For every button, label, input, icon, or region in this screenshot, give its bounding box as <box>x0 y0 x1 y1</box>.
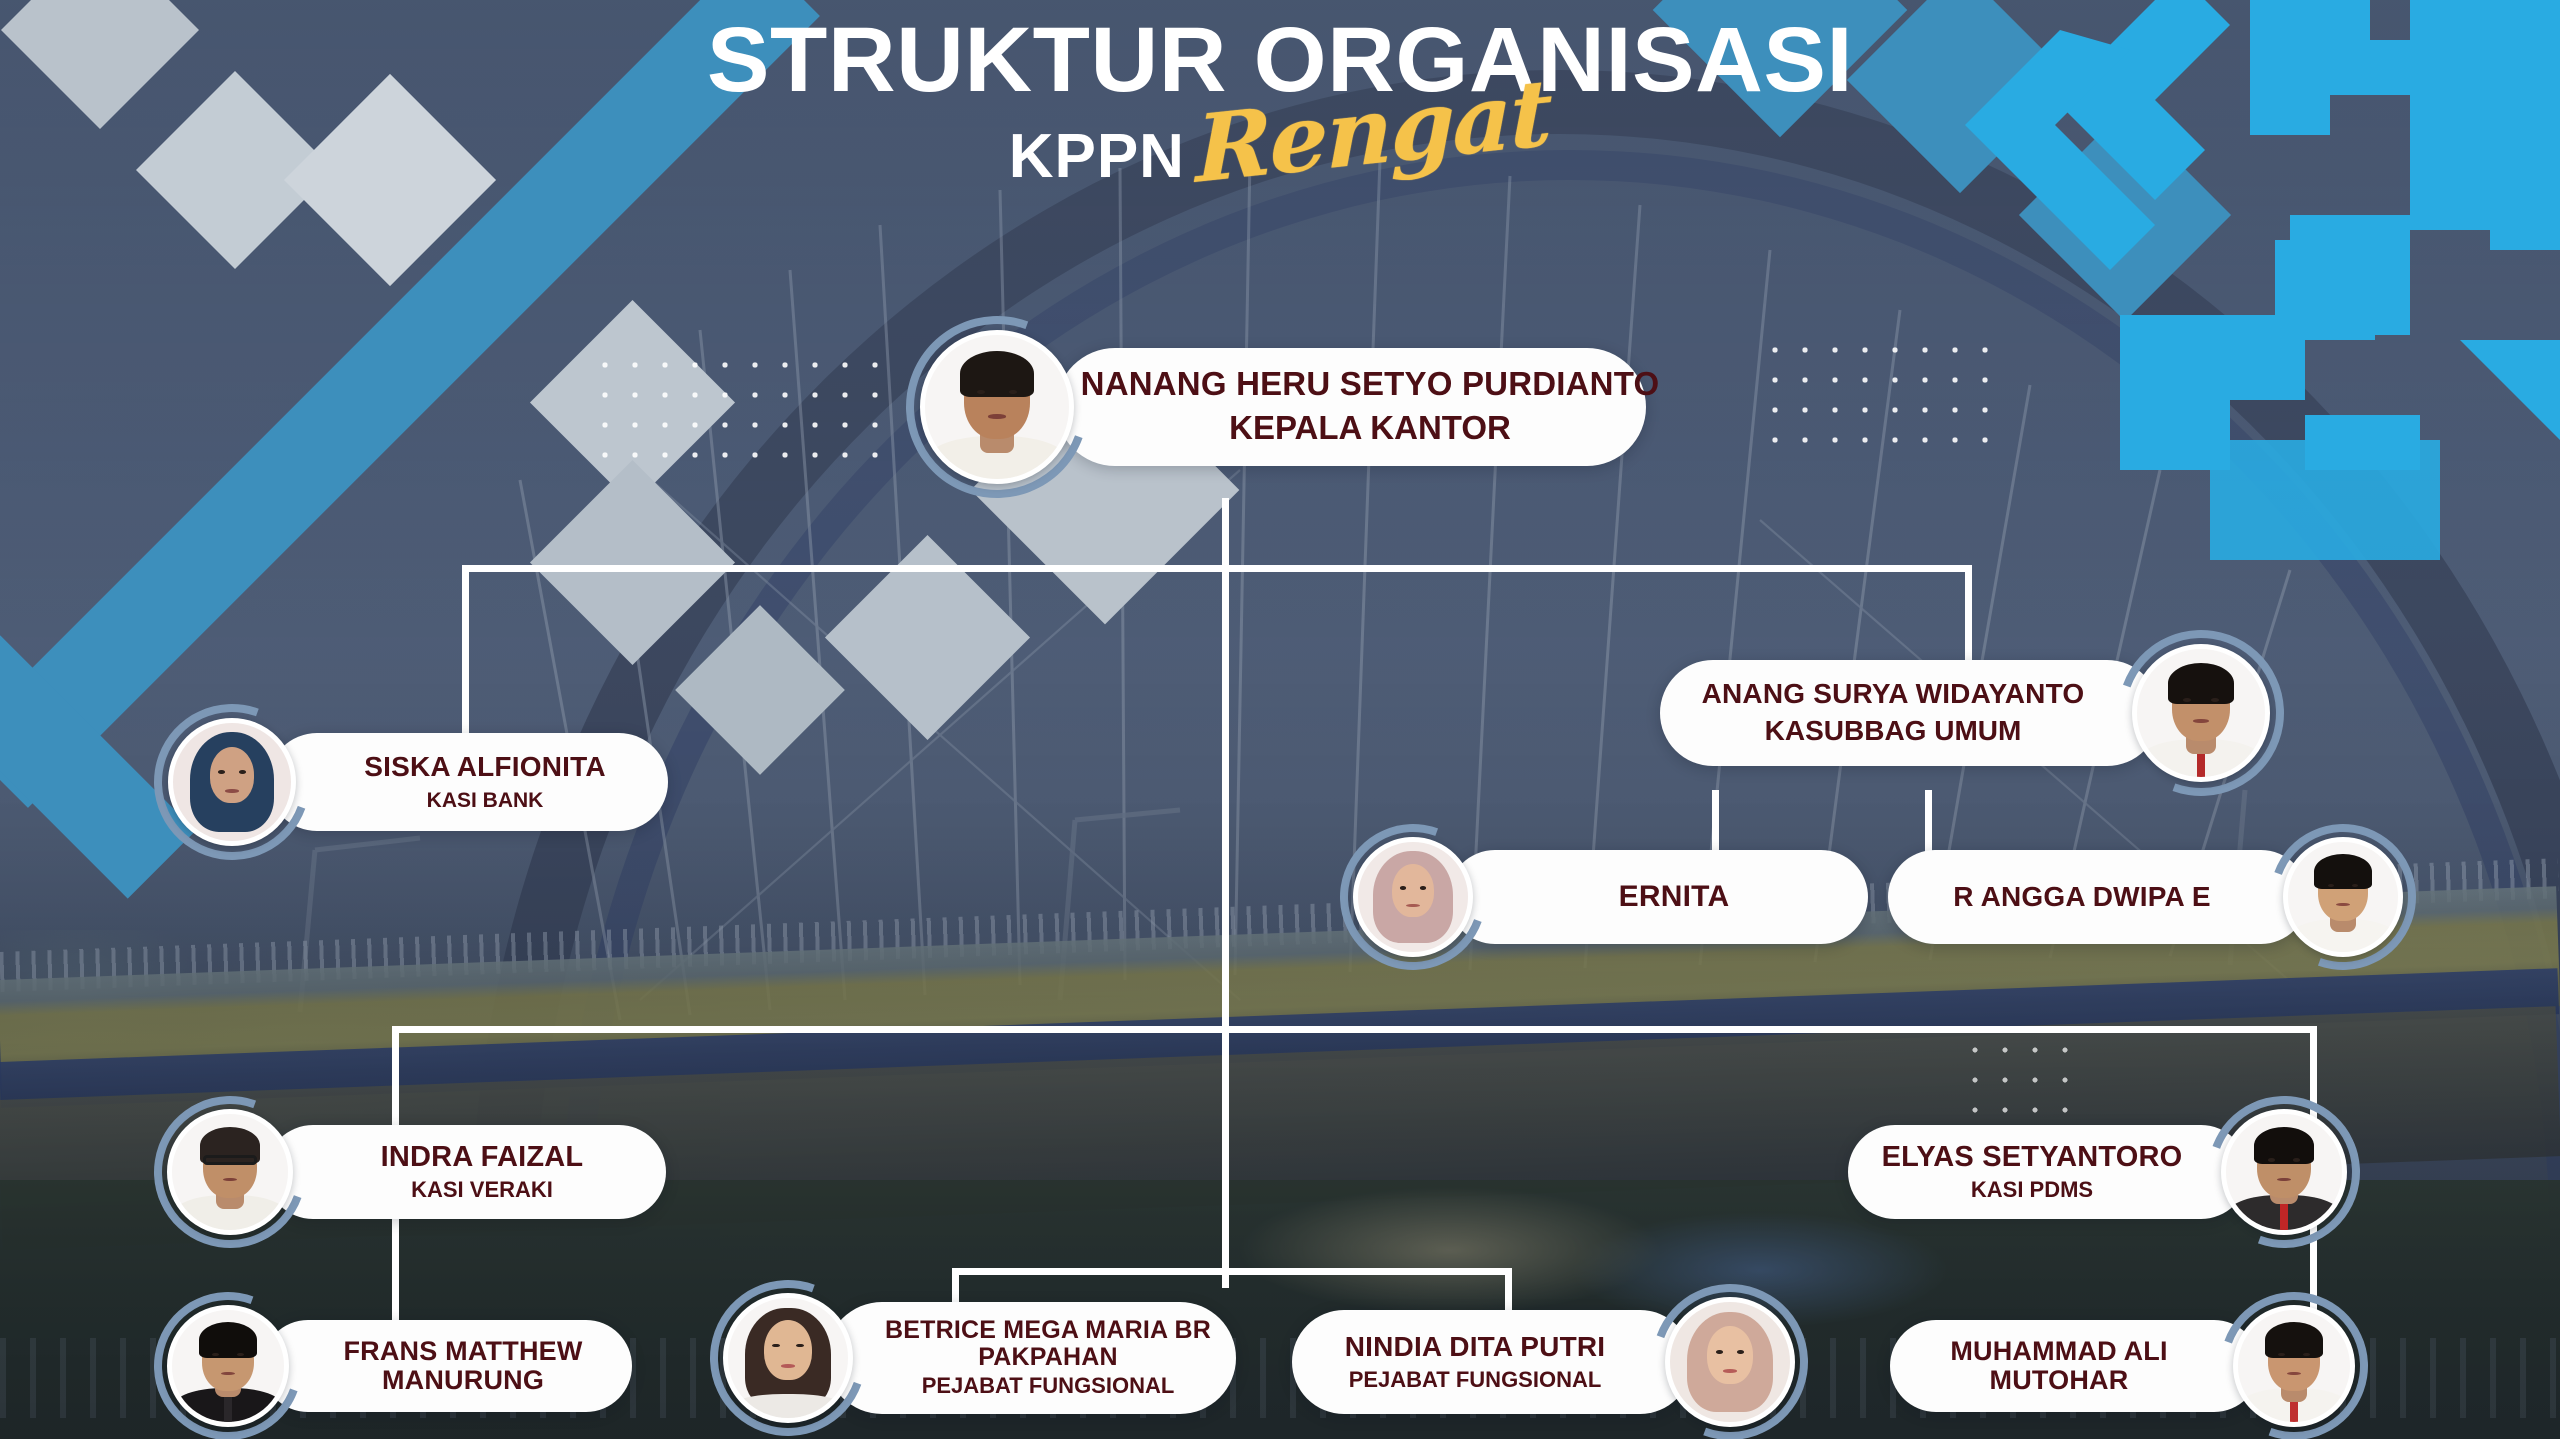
avatar <box>162 1300 294 1432</box>
avatar-photo <box>167 1305 289 1427</box>
org-script-name: Rengat <box>1196 77 1550 186</box>
portrait-female-hijab-navy <box>173 723 291 841</box>
portrait-male-dark-suit <box>2226 1114 2342 1230</box>
avatar-photo <box>168 718 296 846</box>
avatar-photo <box>2283 837 2403 957</box>
org-node-ernita[interactable]: ERNITA <box>1348 832 1868 962</box>
avatar-photo <box>1665 1297 1795 1427</box>
card-betrice[interactable]: BETRICE MEGA MARIA BR PAKPAHAN PEJABAT F… <box>826 1302 1236 1414</box>
portrait-female-hijab-beige <box>1670 1302 1790 1422</box>
connector-bar-upper <box>462 565 1972 572</box>
person-name-line1: BETRICE MEGA MARIA BR <box>885 1317 1211 1344</box>
org-node-anang[interactable]: ANANG SURYA WIDAYANTO KASUBBAG UMUM <box>1660 638 2276 788</box>
person-name-line1: FRANS MATTHEW <box>343 1337 582 1366</box>
org-node-angga[interactable]: R ANGGA DWIPA E <box>1888 832 2408 962</box>
person-role: KEPALA KANTOR <box>1229 410 1511 446</box>
avatar-photo <box>920 330 1074 484</box>
avatar-photo <box>2233 1305 2355 1427</box>
card-ali[interactable]: MUHAMMAD ALI MUTOHAR <box>1890 1320 2260 1412</box>
person-role: KASI PDMS <box>1971 1178 2093 1202</box>
person-name: ERNITA <box>1619 881 1730 913</box>
card-indra[interactable]: INDRA FAIZAL KASI VERAKI <box>266 1125 666 1219</box>
portrait-male-white-shirt <box>2288 842 2398 952</box>
person-role: KASI VERAKI <box>411 1178 553 1202</box>
person-role: PEJABAT FUNGSIONAL <box>1349 1368 1602 1392</box>
subtitle-group: KPPN Rengat <box>0 116 2560 188</box>
person-name: SISKA ALFIONITA <box>364 752 606 782</box>
card-siska[interactable]: SISKA ALFIONITA KASI BANK <box>268 733 668 831</box>
person-name-line2: MANURUNG <box>382 1366 544 1395</box>
poster-header: STRUKTUR ORGANISASI KPPN Rengat <box>0 0 2560 260</box>
connector-bar-lower <box>392 1026 2317 1033</box>
person-role: PEJABAT FUNGSIONAL <box>922 1374 1175 1398</box>
card-ernita[interactable]: ERNITA <box>1448 850 1868 944</box>
avatar-photo <box>2132 644 2270 782</box>
person-name: ANANG SURYA WIDAYANTO <box>1702 679 2085 709</box>
person-name: ELYAS SETYANTORO <box>1882 1142 2183 1173</box>
org-prefix: KPPN <box>1009 126 1185 188</box>
card-elyas[interactable]: ELYAS SETYANTORO KASI PDMS <box>1848 1125 2248 1219</box>
card-anang[interactable]: ANANG SURYA WIDAYANTO KASUBBAG UMUM <box>1660 660 2160 766</box>
avatar <box>912 322 1082 492</box>
portrait-male-black-suit <box>172 1310 284 1422</box>
portrait-male-glasses <box>172 1114 288 1230</box>
avatar-photo <box>723 1293 853 1423</box>
avatar <box>1348 832 1478 962</box>
person-role: KASI BANK <box>427 789 544 812</box>
person-name: NINDIA DITA PUTRI <box>1345 1332 1606 1362</box>
connector-bar-bottom <box>952 1268 1512 1275</box>
avatar <box>2126 638 2276 788</box>
org-node-kepala[interactable]: NANANG HERU SETYO PURDIANTO KEPALA KANTO… <box>912 322 1646 492</box>
organization-chart-poster: STRUKTUR ORGANISASI KPPN Rengat <box>0 0 2560 1439</box>
avatar <box>2216 1104 2352 1240</box>
card-kepala[interactable]: NANANG HERU SETYO PURDIANTO KEPALA KANTO… <box>1056 348 1646 466</box>
person-name-line2: MUTOHAR <box>1990 1366 2129 1395</box>
org-node-siska[interactable]: SISKA ALFIONITA KASI BANK <box>162 712 668 852</box>
person-name: INDRA FAIZAL <box>381 1142 584 1173</box>
avatar-photo <box>167 1109 293 1235</box>
org-node-indra[interactable]: INDRA FAIZAL KASI VERAKI <box>162 1104 666 1240</box>
avatar <box>718 1288 858 1428</box>
person-name: NANANG HERU SETYO PURDIANTO <box>1081 367 1660 402</box>
card-frans[interactable]: FRANS MATTHEW MANURUNG <box>262 1320 632 1412</box>
card-angga[interactable]: R ANGGA DWIPA E <box>1888 850 2308 944</box>
avatar <box>1660 1292 1800 1432</box>
person-name-line1: MUHAMMAD ALI <box>1950 1337 2167 1366</box>
portrait-male-red-tie <box>2137 649 2265 777</box>
avatar-photo <box>2221 1109 2347 1235</box>
portrait-male-red-tie-smile <box>2238 1310 2350 1422</box>
avatar <box>162 1104 298 1240</box>
person-role: KASUBBAG UMUM <box>1765 716 2022 747</box>
portrait-male-head-office <box>925 335 1069 479</box>
person-name: R ANGGA DWIPA E <box>1953 882 2211 912</box>
avatar <box>2228 1300 2360 1432</box>
connector-trunk <box>1222 498 1229 1288</box>
org-node-elyas[interactable]: ELYAS SETYANTORO KASI PDMS <box>1848 1104 2352 1240</box>
glasses-icon <box>203 1155 256 1165</box>
portrait-female-hijab-pink <box>1358 842 1468 952</box>
avatar <box>162 712 302 852</box>
org-node-nindia[interactable]: NINDIA DITA PUTRI PEJABAT FUNGSIONAL <box>1292 1292 1800 1432</box>
avatar <box>2278 832 2408 962</box>
org-node-betrice[interactable]: BETRICE MEGA MARIA BR PAKPAHAN PEJABAT F… <box>718 1288 1236 1428</box>
portrait-female-long-hair <box>728 1298 848 1418</box>
person-name-line2: PAKPAHAN <box>978 1344 1118 1371</box>
card-nindia[interactable]: NINDIA DITA PUTRI PEJABAT FUNGSIONAL <box>1292 1310 1692 1414</box>
org-node-ali[interactable]: MUHAMMAD ALI MUTOHAR <box>1890 1300 2360 1432</box>
org-node-frans[interactable]: FRANS MATTHEW MANURUNG <box>162 1300 632 1432</box>
avatar-photo <box>1353 837 1473 957</box>
